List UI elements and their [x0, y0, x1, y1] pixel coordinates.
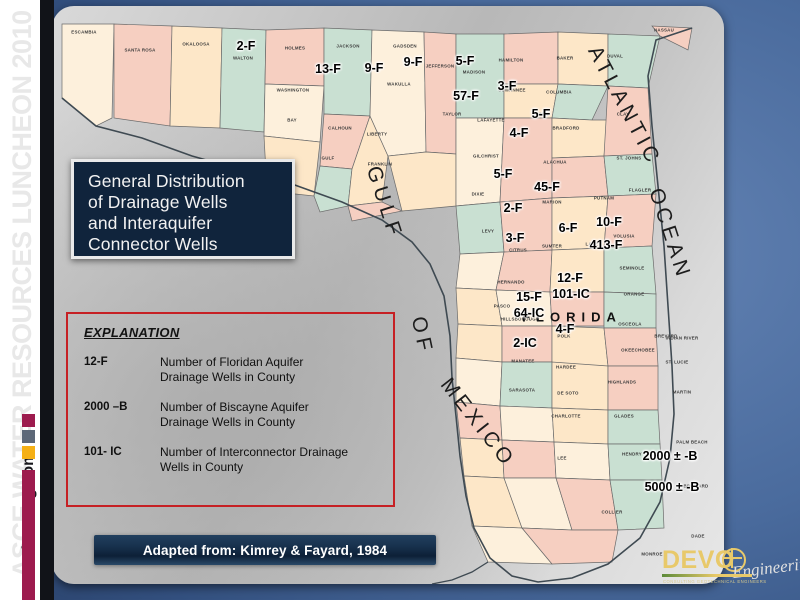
county-label: OKALOOSA [182, 42, 209, 47]
well-count-manatee: 2-IC [513, 336, 537, 350]
source-caption-text: Adapted from: Kimrey & Fayard, 1984 [143, 543, 387, 558]
well-count-polk-f: 12-F [557, 271, 583, 285]
title-line-2: of Drainage Wells [88, 192, 280, 213]
devo-tagline: CONSULTING GEOTECHNICAL ENGINEERS [663, 579, 767, 584]
well-count-hamilton: 5-F [456, 54, 475, 68]
explanation-desc-line: Number of Interconnector Drainage [160, 445, 348, 460]
county-label: GULF [322, 156, 335, 161]
explanation-key: 2000 –B [84, 400, 160, 430]
county-label: BAY [287, 118, 297, 123]
county-label: SARASOTA [509, 388, 535, 393]
color-chip-yellow [22, 446, 35, 459]
county-label: SUMTER [542, 244, 562, 249]
devo-rule [662, 574, 752, 577]
county-label: MADISON [463, 70, 485, 75]
county-label: CITRUS [509, 248, 527, 253]
explanation-key: 12-F [84, 355, 160, 385]
county-label: LEVY [482, 229, 494, 234]
well-count-marion: 45-F [534, 180, 560, 194]
well-count-citrus: 2-F [504, 201, 523, 215]
county-label: LIBERTY [367, 132, 388, 137]
color-chip-slate [22, 430, 35, 443]
well-count-suwannee: 57-F [453, 89, 479, 103]
well-count-bradford: 5-F [532, 107, 551, 121]
explanation-desc-line: Drainage Wells in County [160, 415, 309, 430]
well-count-hernando: 3-F [506, 231, 525, 245]
color-chip-maroon [22, 414, 35, 427]
county-label: MANATEE [511, 359, 534, 364]
well-count-columbia: 3-F [498, 79, 517, 93]
county-label: HERNANDO [497, 280, 524, 285]
well-count-broward: 2000 ± -B [643, 449, 698, 463]
slide-canvas: ASCE WATER RESOURCES LUNCHEON 2010 www.d… [0, 0, 800, 600]
county-label: COLLIER [601, 510, 622, 515]
county-label: SEMINOLE [620, 266, 645, 271]
well-count-dade: 5000 ± -B [645, 480, 700, 494]
explanation-desc-line: Number of Biscayne Aquifer [160, 400, 309, 415]
explanation-row: 101- IC Number of Interconnector Drainag… [84, 445, 393, 475]
explanation-desc: Number of Interconnector Drainage Wells … [160, 445, 348, 475]
devo-logo[interactable]: DEVO Engineering CONSULTING GEOTECHNICAL… [660, 538, 788, 594]
county-label: COLUMBIA [546, 90, 572, 95]
county-label: DE SOTO [557, 391, 578, 396]
explanation-desc-line: Number of Floridan Aquifer [160, 355, 303, 370]
county-label: BRADFORD [552, 126, 579, 131]
county-label: JEFFERSON [426, 64, 455, 69]
title-line-4: Connector Wells [88, 234, 280, 255]
county-label: OKEECHOBEE [621, 348, 655, 353]
county-label: HIGHLANDS [608, 380, 636, 385]
well-count-jackson: 2-F [237, 39, 256, 53]
sidebar-accent-bar [22, 470, 35, 600]
county-label: GILCHRIST [473, 154, 499, 159]
well-count-levy: 5-F [494, 167, 513, 181]
title-line-1: General Distribution [88, 171, 280, 192]
well-count-seminole: 10-F [596, 215, 622, 229]
county-label: CHARLOTTE [551, 414, 580, 419]
title-box: General Distribution of Drainage Wells a… [71, 159, 295, 259]
county-label: INDIAN RIVER [666, 336, 699, 341]
county-label: LAFAYETTE [477, 118, 504, 123]
well-count-orange: 413-F [590, 238, 623, 252]
well-count-alachua: 4-F [510, 126, 529, 140]
explanation-heading: EXPLANATION [84, 325, 393, 340]
county-label: LEE [557, 456, 566, 461]
sidebar-dark-stripe [40, 0, 54, 600]
county-label: CALHOUN [328, 126, 352, 131]
county-label: DIXIE [472, 192, 485, 197]
county-label: PUTNAM [594, 196, 614, 201]
county-label: GLADES [614, 414, 634, 419]
county-label: HAMILTON [499, 58, 524, 63]
source-caption-bar: Adapted from: Kimrey & Fayard, 1984 [94, 535, 436, 565]
explanation-box: EXPLANATION 12-F Number of Floridan Aqui… [66, 312, 395, 507]
explanation-desc: Number of Floridan Aquifer Drainage Well… [160, 355, 303, 385]
county-label: PALM BEACH [676, 440, 707, 445]
county-label: MARTIN [673, 390, 692, 395]
map-panel: ESCAMBIA SANTA ROSA OKALOOSA WALTON HOLM… [52, 6, 724, 584]
county-label: BAKER [557, 56, 574, 61]
well-count-madison: 9-F [404, 55, 423, 69]
explanation-key: 101- IC [84, 445, 160, 475]
county-label: HARDEE [556, 365, 576, 370]
explanation-desc-line: Drainage Wells in County [160, 370, 303, 385]
county-label: WAKULLA [387, 82, 411, 87]
county-label: SANTA ROSA [124, 48, 155, 53]
well-count-polk-ic: 101-IC [552, 287, 590, 301]
county-label: NASSAU [654, 28, 674, 33]
explanation-row: 2000 –B Number of Biscayne Aquifer Drain… [84, 400, 393, 430]
county-label: ALACHUA [543, 160, 566, 165]
county-label: JACKSON [336, 44, 359, 49]
county-label: HENDRY [622, 452, 642, 457]
well-count-hillsborough-f: 15-F [516, 290, 542, 304]
sidebar: ASCE WATER RESOURCES LUNCHEON 2010 www.d… [0, 0, 40, 600]
explanation-desc: Number of Biscayne Aquifer Drainage Well… [160, 400, 309, 430]
county-label: ST. LUCIE [666, 360, 689, 365]
county-label: WASHINGTON [277, 88, 310, 93]
county-label: HOLMES [285, 46, 305, 51]
county-label: TAYLOR [443, 112, 462, 117]
well-count-lake: 6-F [559, 221, 578, 235]
explanation-desc-line: Wells in County [160, 460, 348, 475]
county-label: PASCO [494, 304, 511, 309]
well-count-jefferson: 9-F [365, 61, 384, 75]
well-count-leon: 13-F [315, 62, 341, 76]
county-label: WALTON [233, 56, 253, 61]
well-count-hillsborough-ic: 64-IC [514, 306, 545, 320]
county-label: GADSDEN [393, 44, 417, 49]
county-label: ESCAMBIA [71, 30, 96, 35]
title-line-3: and Interaquifer [88, 213, 280, 234]
well-count-hardee: 4-F [556, 322, 575, 336]
explanation-row: 12-F Number of Floridan Aquifer Drainage… [84, 355, 393, 385]
county-label: ORANGE [624, 292, 645, 297]
county-label: MARION [542, 200, 561, 205]
